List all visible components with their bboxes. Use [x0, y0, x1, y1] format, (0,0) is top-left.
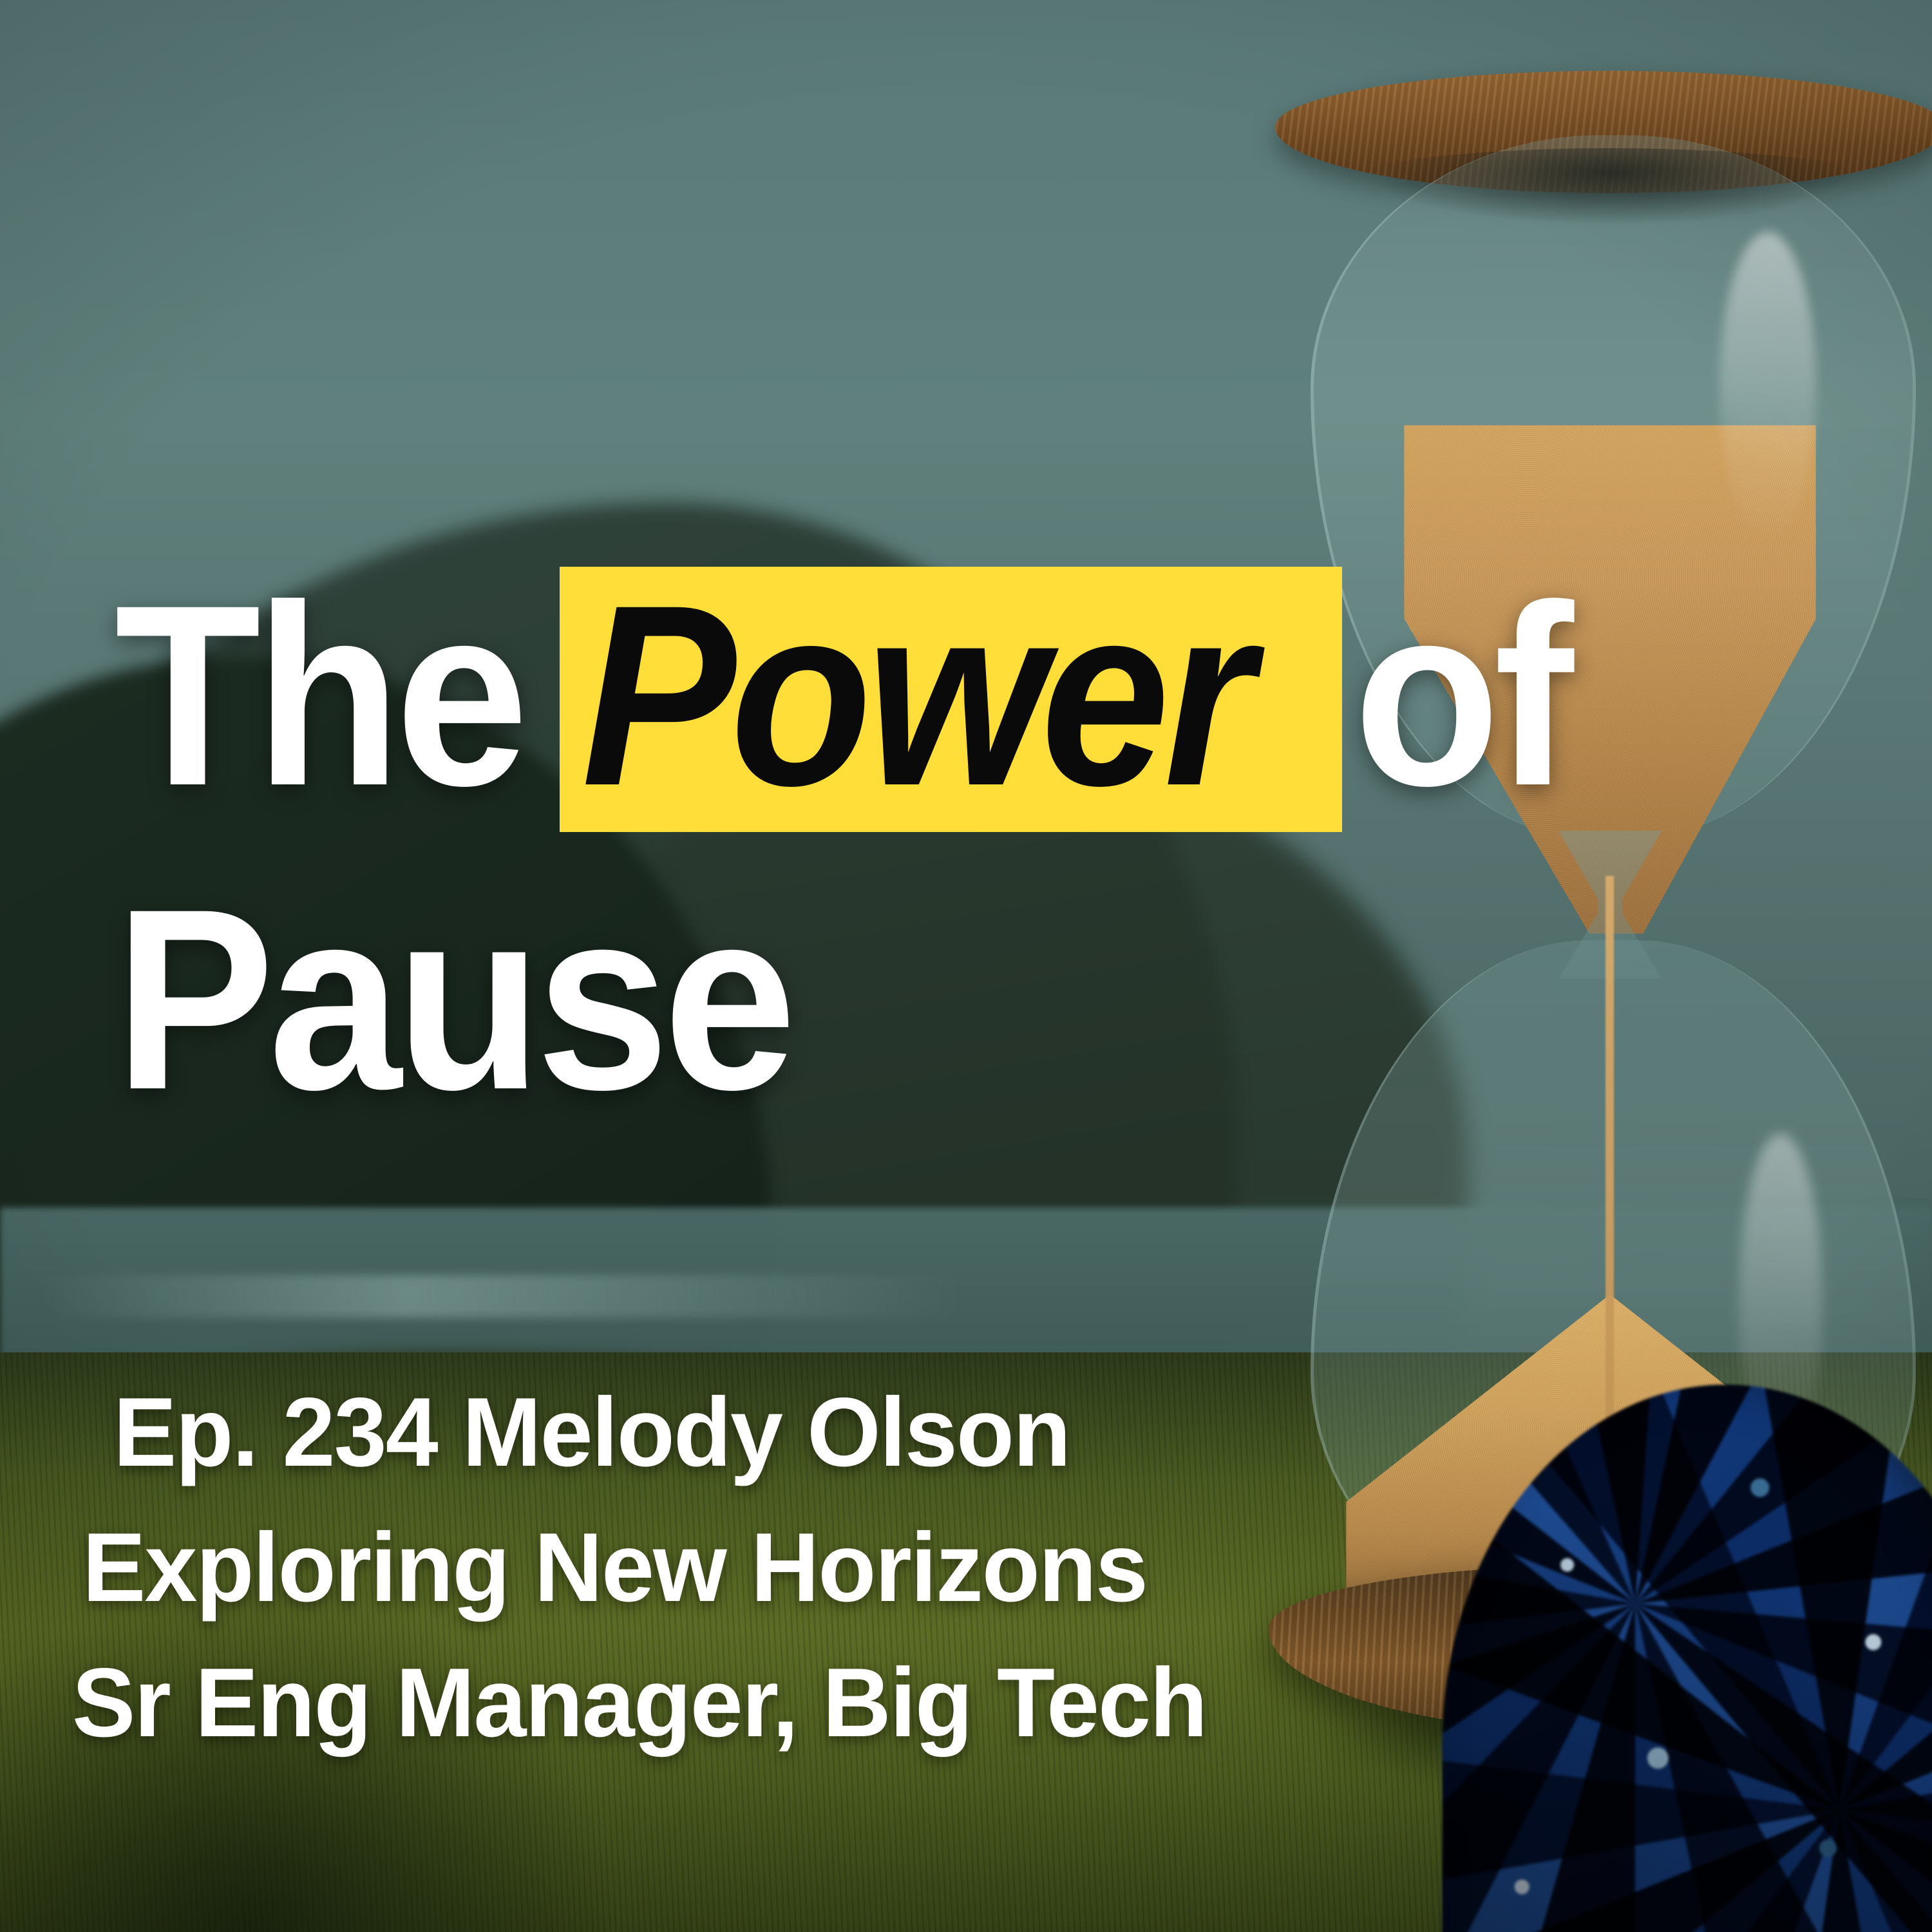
subtitle-line-episode-guest: Ep. 234 Melody Olson: [113, 1365, 1721, 1501]
podcast-cover-art: ThePowerof Pause Ep. 234 Melody Olson Ex…: [0, 0, 1932, 1932]
title-word-the: The: [115, 582, 522, 809]
title-line-2: Pause: [0, 886, 1932, 1113]
subtitle-line-topic: Exploring New Horizons: [82, 1501, 1720, 1636]
title-line-1: ThePowerof: [0, 567, 1932, 832]
title-word-power: Power: [582, 595, 1248, 796]
title-word-pause: Pause: [115, 886, 791, 1113]
subtitle-line-role: Sr Eng Manager, Big Tech: [72, 1636, 1720, 1771]
title-block: ThePowerof Pause: [0, 567, 1932, 1113]
title-highlight-box: Power: [560, 567, 1341, 832]
subtitle-block: Ep. 234 Melody Olson Exploring New Horiz…: [97, 1365, 1771, 1770]
title-word-of: of: [1354, 582, 1568, 809]
